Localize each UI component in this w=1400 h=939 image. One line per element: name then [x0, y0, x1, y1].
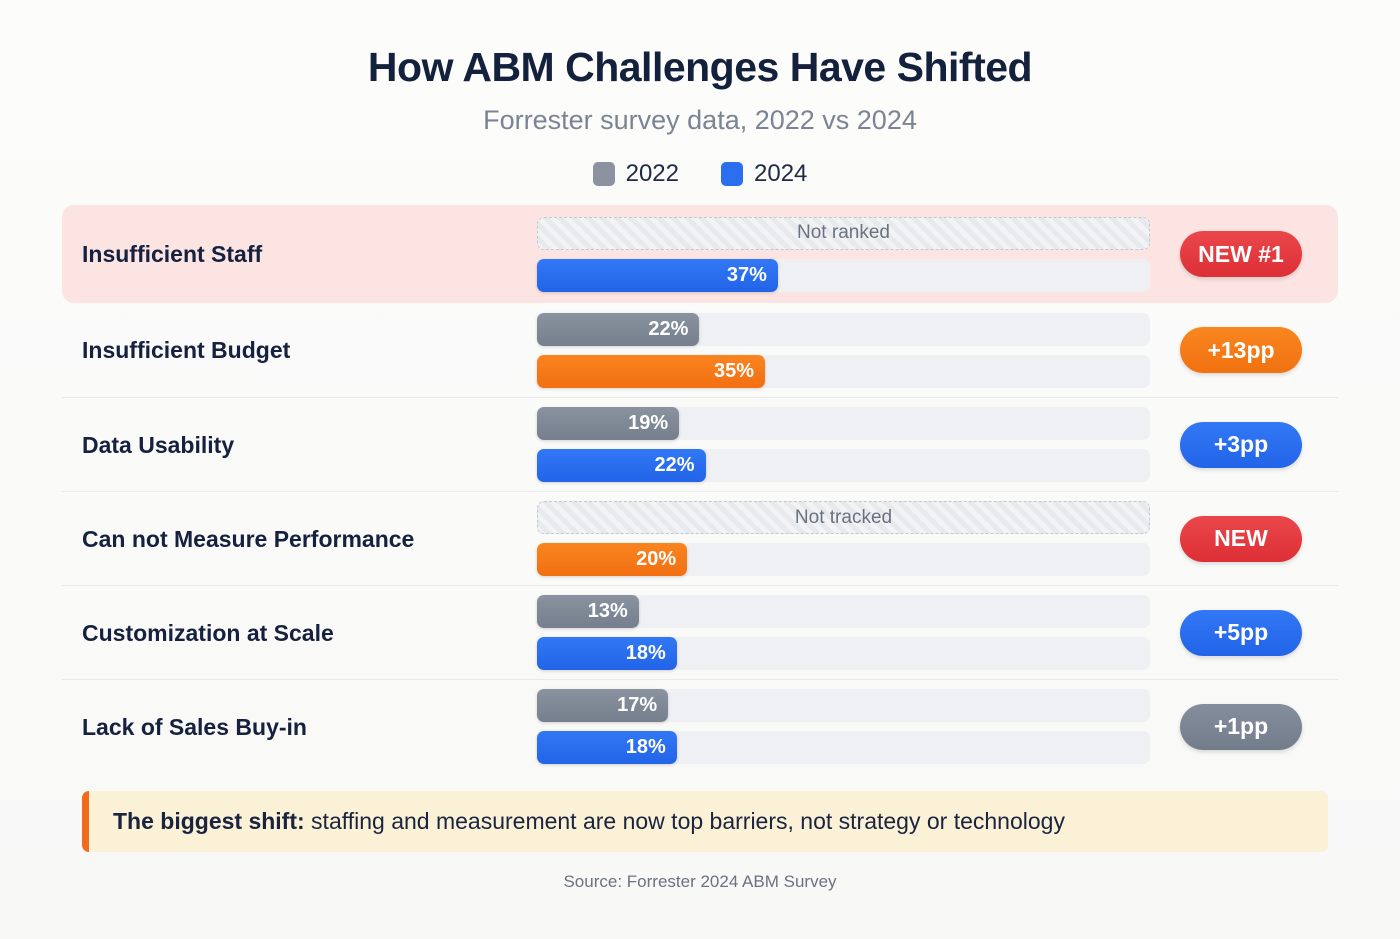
chart-page: How ABM Challenges Have Shifted Forreste… — [0, 0, 1400, 939]
bar-2024: 37% — [537, 259, 778, 292]
row-label: Customization at Scale — [82, 619, 537, 647]
source-note: Source: Forrester 2024 ABM Survey — [0, 872, 1400, 892]
status-badge: +13pp — [1180, 327, 1302, 373]
bar-value-label: 22% — [655, 454, 695, 477]
bar-value-label: 17% — [617, 694, 657, 717]
page-title: How ABM Challenges Have Shifted — [0, 44, 1400, 91]
badge-cell: NEW #1 — [1150, 231, 1310, 277]
bar-track: 19% — [537, 407, 1150, 440]
bar-2024: 35% — [537, 355, 765, 388]
bar-2024: 20% — [537, 543, 687, 576]
bar-2022: 13% — [537, 595, 639, 628]
bar-track: 22% — [537, 313, 1150, 346]
badge-cell: +3pp — [1150, 422, 1310, 468]
row-bars: 22%35% — [537, 313, 1150, 388]
bar-2022: 17% — [537, 689, 668, 722]
bar-value-label: 19% — [628, 412, 668, 435]
badge-cell: +5pp — [1150, 610, 1310, 656]
bar-value-label: 18% — [626, 642, 666, 665]
bar-2024: 18% — [537, 731, 677, 764]
bar-missing-label: Not tracked — [795, 507, 892, 529]
chart-row: Insufficient StaffNot ranked37%NEW #1 — [62, 205, 1338, 303]
status-badge: +3pp — [1180, 422, 1302, 468]
badge-cell: +1pp — [1150, 704, 1310, 750]
chart-row: Can not Measure PerformanceNot tracked20… — [62, 491, 1338, 585]
badge-cell: NEW — [1150, 516, 1310, 562]
row-bars: 13%18% — [537, 595, 1150, 670]
bar-track-missing: Not ranked — [537, 217, 1150, 250]
bar-value-label: 22% — [648, 318, 688, 341]
row-bars: 19%22% — [537, 407, 1150, 482]
legend-swatch-2022 — [593, 162, 615, 186]
bar-track: 18% — [537, 637, 1150, 670]
bar-value-label: 18% — [626, 736, 666, 759]
bar-value-label: 13% — [588, 600, 628, 623]
bar-2024: 22% — [537, 449, 706, 482]
chart-subtitle: Forrester survey data, 2022 vs 2024 — [0, 105, 1400, 136]
row-label: Data Usability — [82, 431, 537, 459]
callout-text: staffing and measurement are now top bar… — [305, 808, 1065, 834]
chart-legend: 2022 2024 — [0, 160, 1400, 188]
chart-row: Lack of Sales Buy-in17%18%+1pp — [62, 679, 1338, 773]
bar-missing-label: Not ranked — [797, 222, 890, 244]
bar-value-label: 20% — [636, 548, 676, 571]
chart-header: How ABM Challenges Have Shifted Forreste… — [0, 0, 1400, 188]
badge-cell: +13pp — [1150, 327, 1310, 373]
row-label: Lack of Sales Buy-in — [82, 713, 537, 741]
row-bars: Not tracked20% — [537, 501, 1150, 576]
row-label: Insufficient Staff — [82, 240, 537, 268]
bar-2024: 18% — [537, 637, 677, 670]
status-badge: +1pp — [1180, 704, 1302, 750]
bar-track: 13% — [537, 595, 1150, 628]
legend-swatch-2024 — [721, 162, 743, 186]
row-bars: 17%18% — [537, 689, 1150, 764]
row-bars: Not ranked37% — [537, 217, 1150, 292]
chart-rows: Insufficient StaffNot ranked37%NEW #1Ins… — [0, 205, 1400, 773]
bar-2022: 22% — [537, 313, 699, 346]
bar-track: 37% — [537, 259, 1150, 292]
legend-item-2022: 2022 — [593, 160, 679, 188]
bar-track: 20% — [537, 543, 1150, 576]
legend-label-2022: 2022 — [626, 160, 679, 188]
status-badge: NEW #1 — [1180, 231, 1302, 277]
bar-track: 18% — [537, 731, 1150, 764]
row-label: Can not Measure Performance — [82, 525, 537, 553]
legend-label-2024: 2024 — [754, 160, 807, 188]
insight-callout: The biggest shift: staffing and measurem… — [82, 791, 1328, 852]
bar-value-label: 37% — [727, 264, 767, 287]
legend-item-2024: 2024 — [721, 160, 807, 188]
bar-track-missing: Not tracked — [537, 501, 1150, 534]
bar-track: 17% — [537, 689, 1150, 722]
status-badge: NEW — [1180, 516, 1302, 562]
status-badge: +5pp — [1180, 610, 1302, 656]
chart-row: Insufficient Budget22%35%+13pp — [62, 303, 1338, 397]
bar-track: 35% — [537, 355, 1150, 388]
row-label: Insufficient Budget — [82, 336, 537, 364]
chart-row: Data Usability19%22%+3pp — [62, 397, 1338, 491]
bar-2022: 19% — [537, 407, 679, 440]
bar-value-label: 35% — [714, 360, 754, 383]
callout-lead: The biggest shift: — [113, 808, 305, 834]
chart-row: Customization at Scale13%18%+5pp — [62, 585, 1338, 679]
bar-track: 22% — [537, 449, 1150, 482]
